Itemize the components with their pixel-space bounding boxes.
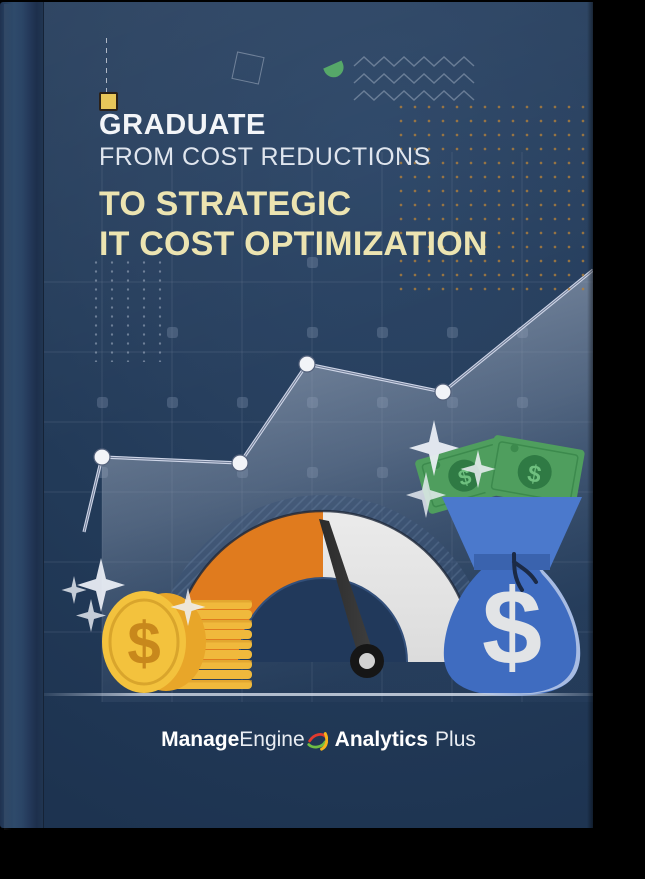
manageengine-analytics-plus-logo: ManageEngine AnalyticsPlus [44,728,593,752]
title-line-it-cost: IT COST OPTIMIZATION [99,224,579,264]
title-line-strategic: TO STRATEGIC [99,184,579,224]
title-block: GRADUATE FROM COST REDUCTIONS TO STRATEG… [99,110,579,264]
gauge-hub-center [359,653,375,669]
coin-dollar-symbol: $ [127,610,160,677]
spine-highlight [4,4,12,830]
cover-right-edge-shade [587,2,593,828]
logo-analytics-text: Analytics [335,728,428,751]
logo-plus-text: Plus [435,728,476,751]
logo-manage-text: Manage [161,728,239,751]
book-spine [0,2,46,828]
zigzag-decoration [354,57,474,100]
book-cover-mockup: $ $ $ [0,0,645,879]
outline-square-decoration [231,51,264,84]
dashed-line-decoration [106,38,107,96]
ground-line [44,693,593,696]
title-line-from-cost: FROM COST REDUCTIONS [99,142,579,173]
logo-engine-text: Engine [239,728,304,751]
manageengine-swoosh-icon [306,729,328,751]
title-line-graduate: GRADUATE [99,110,579,140]
money-bag-dollar-symbol: $ [482,566,542,687]
book-front-cover: $ $ $ [44,2,593,828]
light-dot-grid-decoration [88,258,168,362]
